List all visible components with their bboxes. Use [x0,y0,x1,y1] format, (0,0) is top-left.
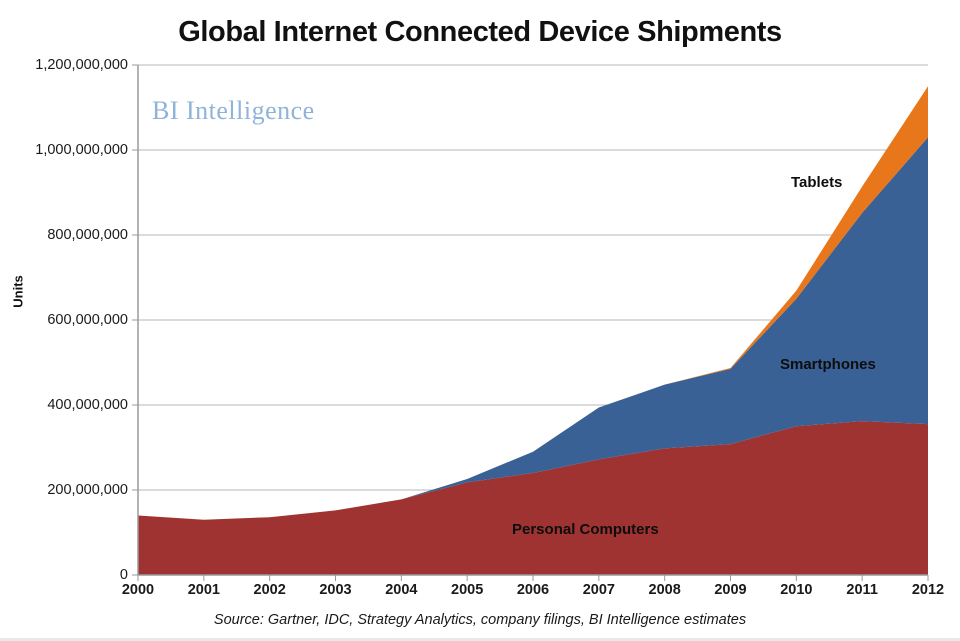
x-tick-label-2000: 2000 [108,582,168,598]
plot-area [0,0,960,641]
chart-container: Global Internet Connected Device Shipmen… [0,0,960,641]
x-tick-label-2002: 2002 [240,582,300,598]
x-tick-label-2001: 2001 [174,582,234,598]
series-label-smartphones: Smartphones [780,356,876,373]
x-tick-label-2007: 2007 [569,582,629,598]
bi-intelligence-watermark: BI Intelligence [152,96,315,126]
x-tick-label-2008: 2008 [635,582,695,598]
x-tick-label-2006: 2006 [503,582,563,598]
watermark-text: BI Intelligence [152,96,315,125]
x-axis-ticks [138,575,928,581]
x-tick-label-2010: 2010 [766,582,826,598]
source-note: Source: Gartner, IDC, Strategy Analytics… [0,612,960,628]
series-areas [138,86,928,575]
x-tick-label-2003: 2003 [306,582,366,598]
series-area-personal-computers [138,421,928,575]
series-label-tablets: Tablets [791,174,842,191]
x-tick-label-2009: 2009 [701,582,761,598]
x-tick-label-2005: 2005 [437,582,497,598]
x-tick-label-2011: 2011 [832,582,892,598]
series-label-personal-computers: Personal Computers [512,521,659,538]
x-tick-label-2004: 2004 [371,582,431,598]
x-tick-label-2012: 2012 [898,582,958,598]
